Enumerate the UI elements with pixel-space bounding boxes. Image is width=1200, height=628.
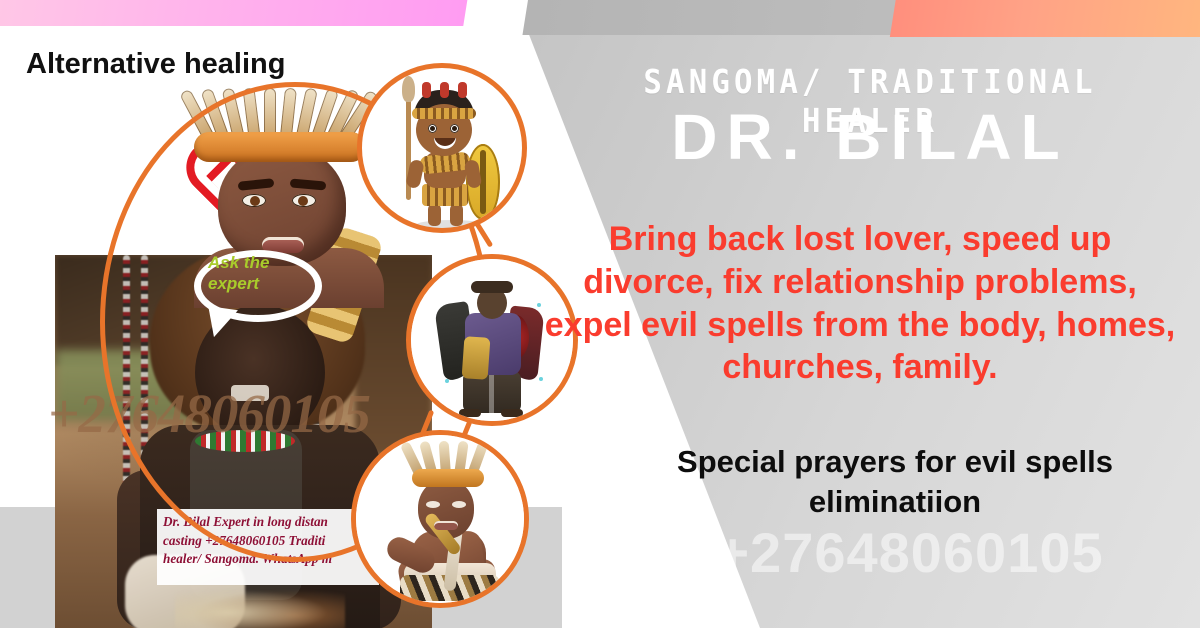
circle-crouching-warrior — [351, 430, 529, 608]
photo-pots — [175, 585, 345, 628]
cartoon-warrior-illustration — [362, 68, 522, 228]
leg-left — [428, 204, 441, 226]
leg-right — [450, 204, 463, 226]
bubble-line-1: Ask the — [208, 253, 328, 274]
watermark-phone-right: +27648060105 — [620, 520, 1200, 585]
shoe-left — [459, 409, 481, 417]
bubble-line-2: expert — [208, 274, 328, 295]
services-text: Bring back lost lover, speed up divorce,… — [540, 218, 1180, 389]
hat — [471, 281, 513, 293]
gold-sash — [462, 336, 491, 380]
subheading-text: Special prayers for evil spells eliminat… — [600, 442, 1190, 523]
orange-accent-band — [890, 0, 1200, 37]
spear-head — [402, 76, 415, 102]
poster-canvas: Alternative healing +27648060105 Dr. Bil… — [0, 0, 1200, 628]
shoe-right — [501, 409, 523, 417]
eye-left — [426, 501, 440, 508]
mouth — [434, 521, 458, 530]
left-heading: Alternative healing — [26, 48, 285, 81]
pupil-left — [430, 126, 435, 131]
leopard-headband — [412, 108, 476, 119]
speech-bubble-text: Ask the expert — [208, 253, 328, 294]
crouching-warrior-illustration — [356, 435, 524, 603]
circle-cartoon-zulu-warrior — [357, 63, 527, 233]
eye-right — [452, 501, 466, 508]
page-title: DR. BILAL — [560, 104, 1180, 171]
pink-accent-band — [0, 0, 468, 26]
orange-crown — [412, 469, 484, 487]
pupil-right — [452, 126, 457, 131]
